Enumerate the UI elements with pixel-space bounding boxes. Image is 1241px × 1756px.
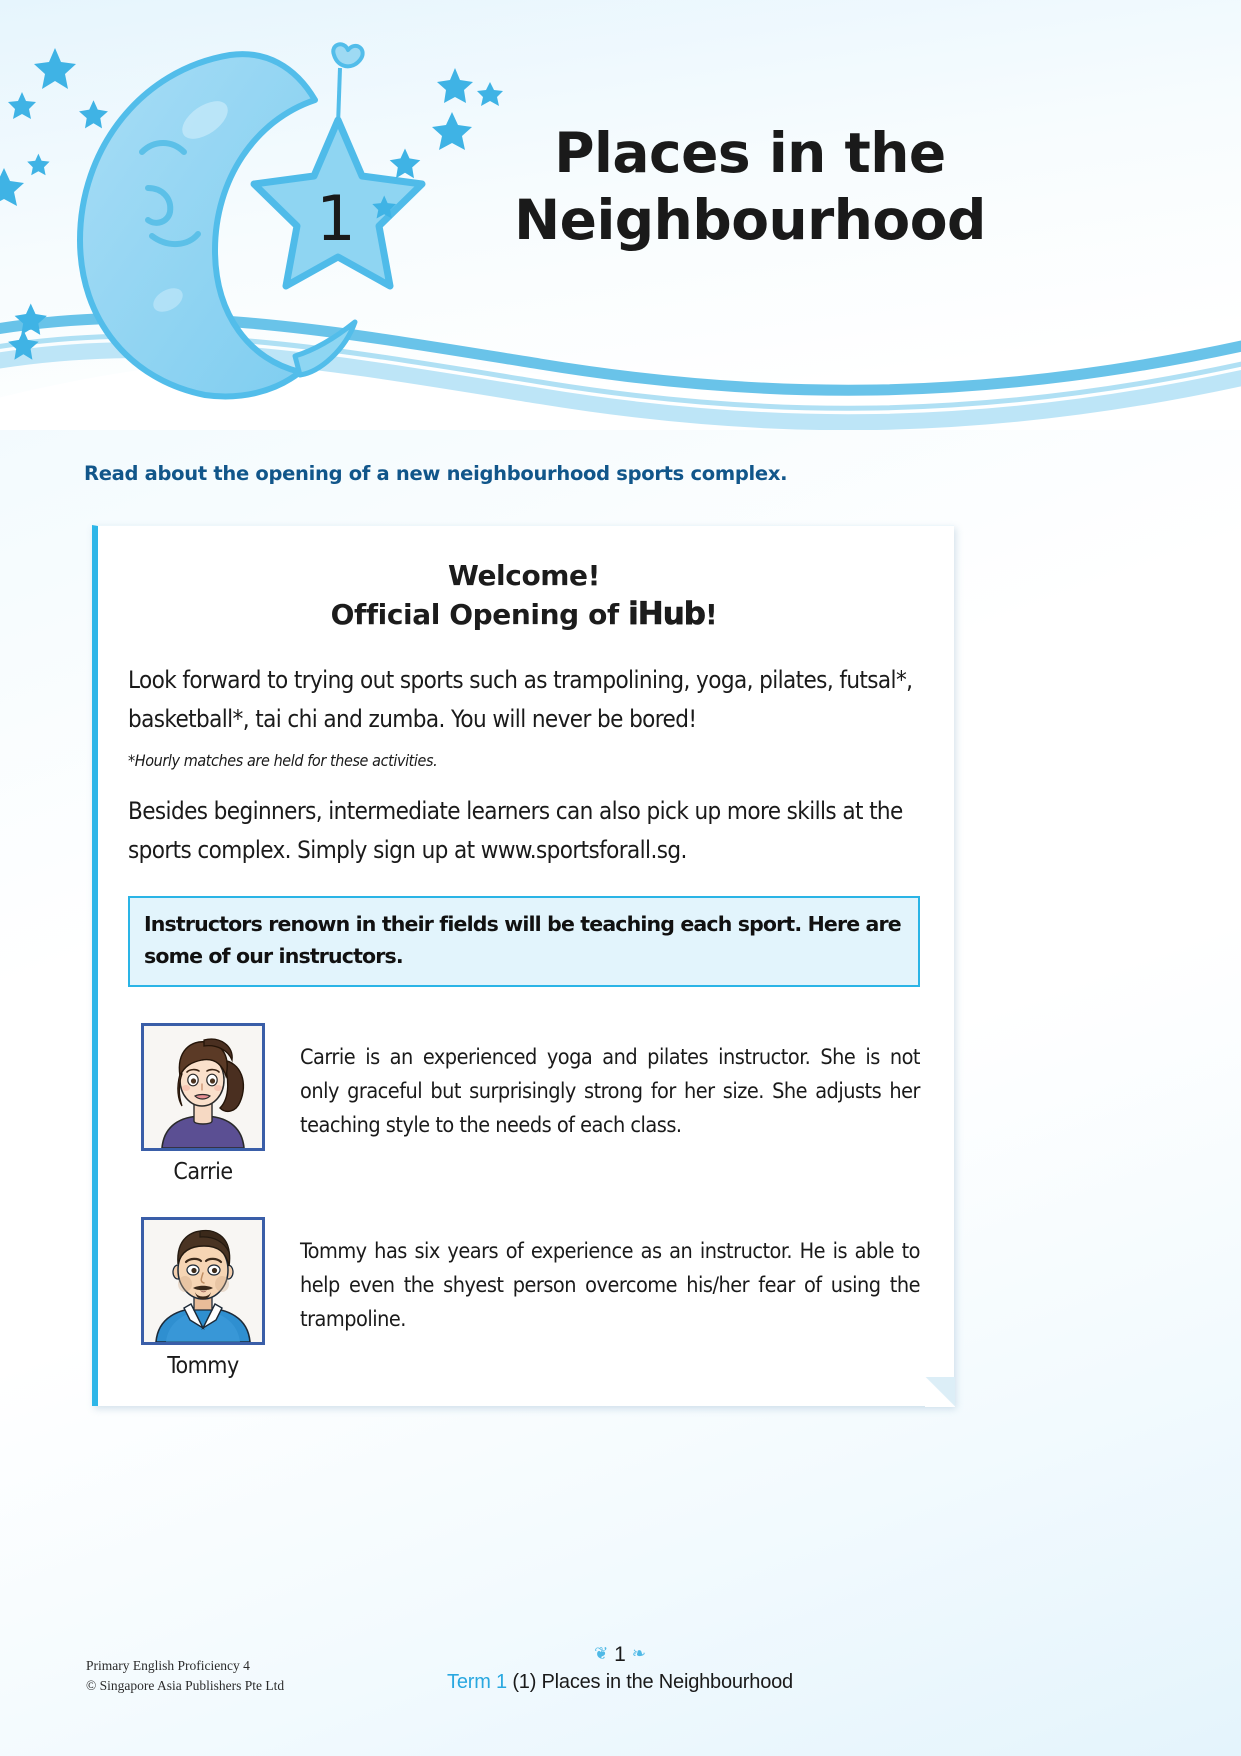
list-item: Carrie Carrie is an experienced yoga and… (128, 1023, 920, 1185)
list-item: Tommy Tommy has six years of experience … (128, 1217, 920, 1379)
instructor-description: Tommy has six years of experience as an … (278, 1217, 920, 1337)
opening-prefix: Official Opening of (331, 598, 628, 631)
instructor-photo-block: Tommy (128, 1217, 278, 1379)
flourish-right-icon: ❧ (632, 1644, 646, 1663)
footer-chapter-reference: Term 1 (1) Places in the Neighbourhood (380, 1671, 860, 1694)
male-instructor-avatar (141, 1217, 265, 1345)
instructor-name: Tommy (128, 1353, 278, 1379)
instructor-photo-block: Carrie (128, 1023, 278, 1185)
instructors-list: Carrie Carrie is an experienced yoga and… (128, 1023, 920, 1379)
page-title-line-1: Places in the (430, 120, 1070, 187)
footer-chapter-title: (1) Places in the Neighbourhood (512, 1671, 793, 1693)
flourish-left-icon: ❦ (594, 1644, 608, 1663)
opening-suffix: ! (705, 598, 717, 631)
chapter-number: 1 (316, 182, 355, 255)
footer-book-title: Primary English Proficiency 4 (86, 1656, 284, 1676)
ihub-brand: iHub (628, 596, 705, 632)
instructors-callout: Instructors renown in their fields will … (128, 896, 920, 987)
poster-footnote: *Hourly matches are held for these activ… (128, 751, 920, 770)
page-title: Places in the Neighbourhood (430, 120, 1070, 254)
page-number-line: ❦ 1 ❧ (380, 1644, 860, 1665)
worksheet-page: 1 Places in the Neighbourhood Read (0, 0, 1241, 1756)
female-instructor-avatar (141, 1023, 265, 1151)
instructor-name: Carrie (128, 1159, 278, 1185)
footer-term: Term 1 (447, 1671, 507, 1693)
opening-line: Official Opening of iHub! (128, 594, 920, 634)
instruction-text: Read about the opening of a new neighbou… (84, 462, 787, 485)
poster-paragraph-1: Look forward to trying out sports such a… (128, 661, 920, 739)
poster-card: Welcome! Official Opening of iHub! Look … (92, 525, 954, 1406)
footer-page-info: ❦ 1 ❧ Term 1 (1) Places in the Neighbour… (380, 1644, 860, 1694)
poster-heading: Welcome! Official Opening of iHub! (128, 558, 920, 635)
poster-paragraph-2: Besides beginners, intermediate learners… (128, 792, 920, 870)
page-number: 1 (614, 1643, 626, 1666)
instructor-description: Carrie is an experienced yoga and pilate… (278, 1023, 920, 1143)
footer-copyright: © Singapore Asia Publishers Pte Ltd (86, 1676, 284, 1696)
welcome-line: Welcome! (128, 558, 920, 594)
page-title-line-2: Neighbourhood (430, 187, 1070, 254)
footer-publisher: Primary English Proficiency 4 © Singapor… (86, 1656, 284, 1697)
